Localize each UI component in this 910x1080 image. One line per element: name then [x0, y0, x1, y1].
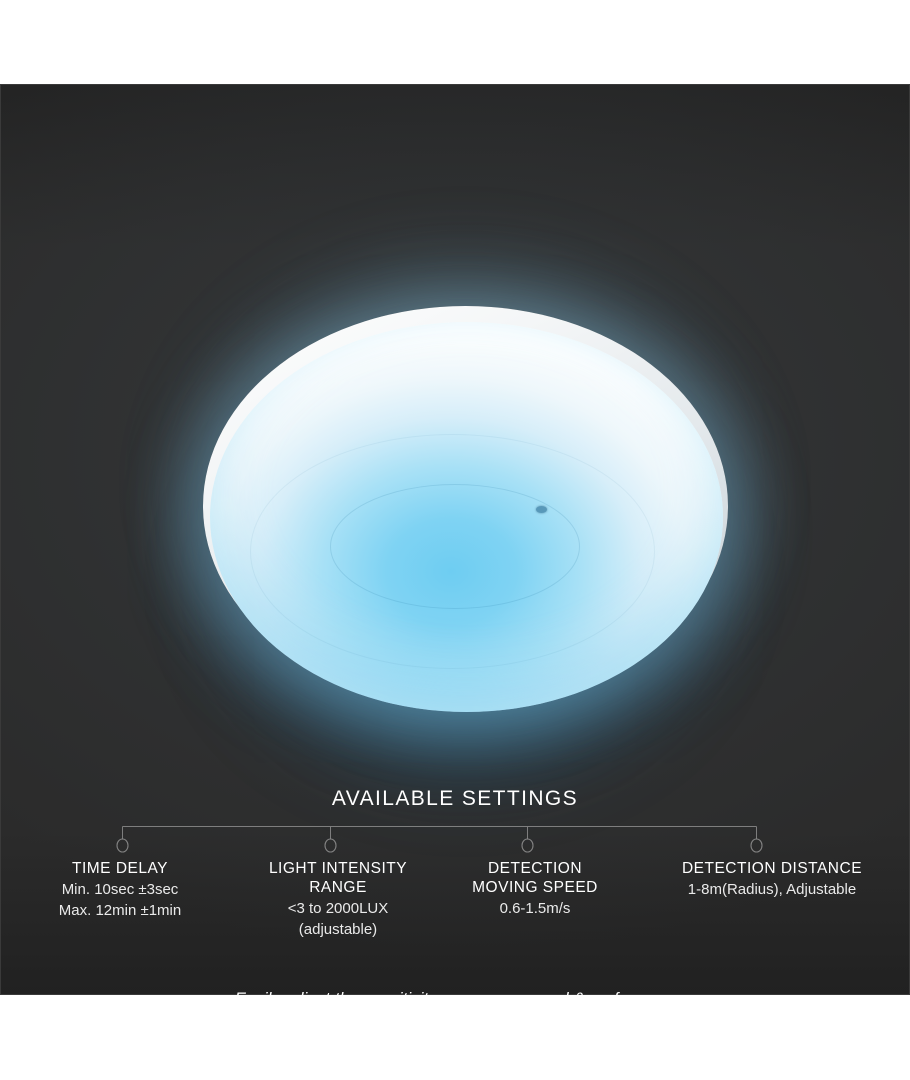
available-settings-section: AVAILABLE SETTINGS — [0, 704, 910, 811]
setting-column-light-intensity-range: LIGHT INTENSITY RANGE <3 to 2000LUX (adj… — [240, 859, 436, 940]
product-panel: AVAILABLE SETTINGS — [0, 84, 910, 995]
setting-heading: TIME DELAY — [0, 859, 240, 878]
setting-value: 1-8m(Radius), Adjustable — [634, 879, 910, 900]
setting-heading: DETECTION MOVING SPEED — [436, 859, 634, 897]
connector-node-2 — [522, 839, 533, 852]
setting-heading: DETECTION DISTANCE — [634, 859, 910, 878]
microwave-sensor-icon — [536, 506, 547, 513]
setting-value: 0.6-1.5m/s — [436, 898, 634, 919]
setting-column-time-delay: TIME DELAY Min. 10sec ±3sec Max. 12min ±… — [0, 859, 240, 940]
setting-column-detection-distance: DETECTION DISTANCE 1-8m(Radius), Adjusta… — [634, 859, 910, 940]
lamp-diffuser — [210, 322, 723, 712]
setting-column-detection-moving-speed: DETECTION MOVING SPEED 0.6-1.5m/s — [436, 859, 634, 940]
setting-value: Min. 10sec ±3sec Max. 12min ±1min — [0, 879, 240, 921]
setting-heading: LIGHT INTENSITY RANGE — [240, 859, 436, 897]
product-image — [0, 84, 910, 704]
setting-value: <3 to 2000LUX (adjustable) — [240, 898, 436, 940]
settings-columns: TIME DELAY Min. 10sec ±3sec Max. 12min ±… — [0, 859, 910, 940]
page-root: AVAILABLE SETTINGS — [0, 0, 910, 1080]
connector-node-3 — [751, 839, 762, 852]
settings-title: AVAILABLE SETTINGS — [0, 704, 910, 811]
connector-node-1 — [325, 839, 336, 852]
connector-node-0 — [117, 839, 128, 852]
tagline: Easily adjust the sensitivity as per you… — [0, 990, 910, 995]
